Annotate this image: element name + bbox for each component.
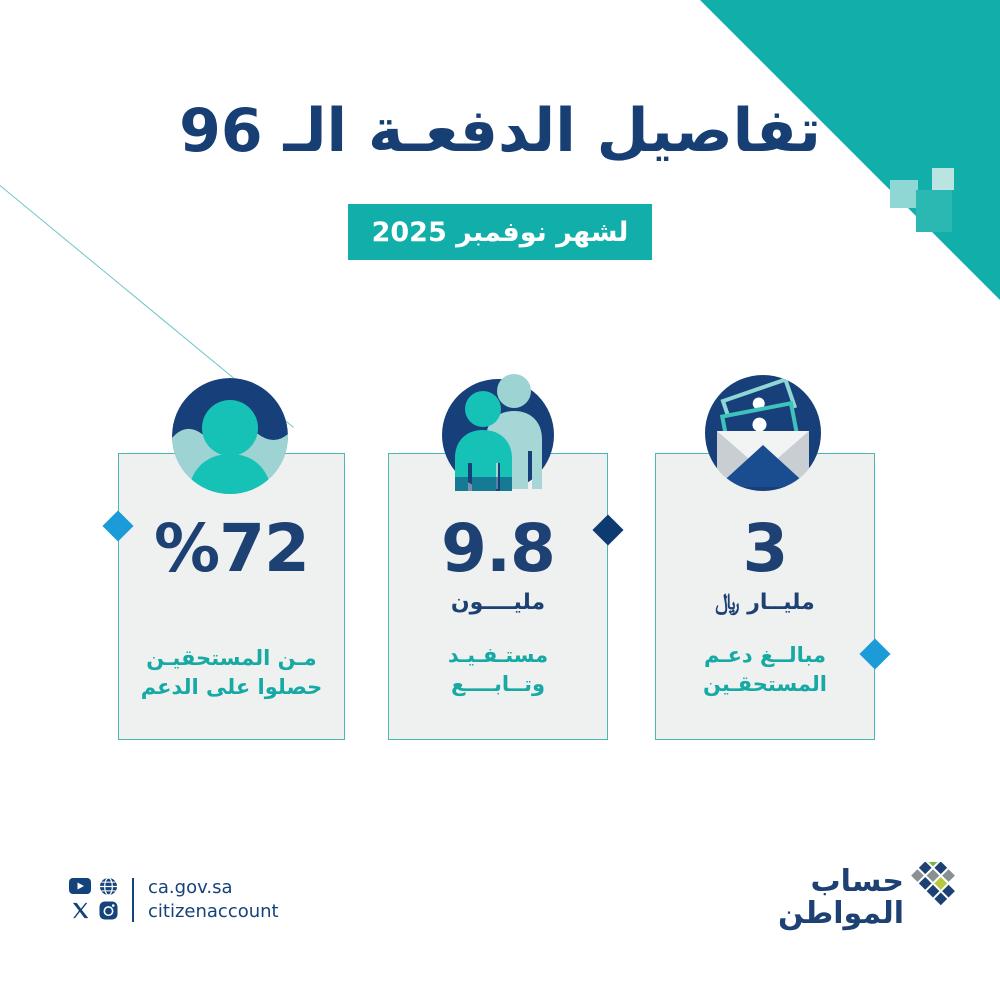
stat-caption-line-1: مبالــغ دعـم: [656, 641, 874, 670]
stat-cards-row: %72 مـن المستحقيـن حصلوا على الدعم: [0, 453, 1000, 743]
stat-caption: مبالــغ دعـم المستحقـين: [656, 641, 874, 699]
x-twitter-icon[interactable]: [71, 901, 90, 924]
footer-handles: ca.gov.sa citizenaccount: [148, 876, 279, 925]
youtube-icon[interactable]: [69, 878, 91, 898]
two-people-icon: [440, 373, 556, 489]
stat-caption-line-1: مستـفـيـد: [389, 641, 607, 670]
brand-logo: حساب المواطن: [770, 862, 960, 944]
footer-social-block: ca.gov.sa citizenaccount: [66, 876, 279, 925]
person-avatar-icon: [172, 378, 288, 494]
corner-square-decoration-b: [916, 190, 952, 232]
stat-unit: مليــار ﷼: [656, 590, 874, 615]
stat-value: %72: [119, 516, 344, 582]
diagonal-line-decoration: [0, 0, 294, 428]
website-link[interactable]: ca.gov.sa: [148, 876, 279, 900]
brand-logo-line-2: المواطن: [778, 898, 904, 930]
brand-logo-text: حساب المواطن: [778, 866, 904, 931]
stat-caption-line-2: حصلوا على الدعم: [119, 673, 344, 702]
subtitle-badge: لشهر نوفمبر 2025: [348, 204, 652, 260]
stat-caption-line-1: مـن المستحقيـن: [119, 644, 344, 673]
brand-logo-mark: [906, 862, 960, 916]
envelope-money-icon: [705, 375, 821, 491]
globe-icon[interactable]: [99, 877, 118, 900]
social-handle[interactable]: citizenaccount: [148, 900, 279, 924]
stat-value: 3: [656, 516, 874, 582]
page-title: تفاصيل الدفعـة الـ 96: [0, 96, 1000, 166]
instagram-icon[interactable]: [99, 901, 118, 924]
footer-divider: [132, 878, 134, 922]
stat-card-percentage: %72 مـن المستحقيـن حصلوا على الدعم: [118, 453, 345, 740]
infographic-poster: تفاصيل الدفعـة الـ 96 لشهر نوفمبر 2025 %…: [0, 0, 1000, 1000]
stat-caption-line-2: المستحقـين: [656, 670, 874, 699]
stat-unit: مليــــون: [389, 590, 607, 615]
stat-caption: مـن المستحقيـن حصلوا على الدعم: [119, 644, 344, 702]
corner-square-decoration-a: [890, 180, 918, 208]
corner-square-decoration-c: [932, 168, 954, 190]
stat-caption-line-2: وتــابــــع: [389, 670, 607, 699]
stat-value: 9.8: [389, 516, 607, 582]
stat-card-amount: 3 مليــار ﷼ مبالــغ دعـم المستحقـين: [655, 453, 875, 740]
stat-card-beneficiaries: 9.8 مليــــون مستـفـيـد وتــابــــع: [388, 453, 608, 740]
stat-caption: مستـفـيـد وتــابــــع: [389, 641, 607, 699]
subtitle-text: لشهر نوفمبر 2025: [372, 217, 629, 248]
brand-logo-line-1: حساب: [778, 866, 904, 898]
social-icons-grid: [66, 876, 122, 924]
